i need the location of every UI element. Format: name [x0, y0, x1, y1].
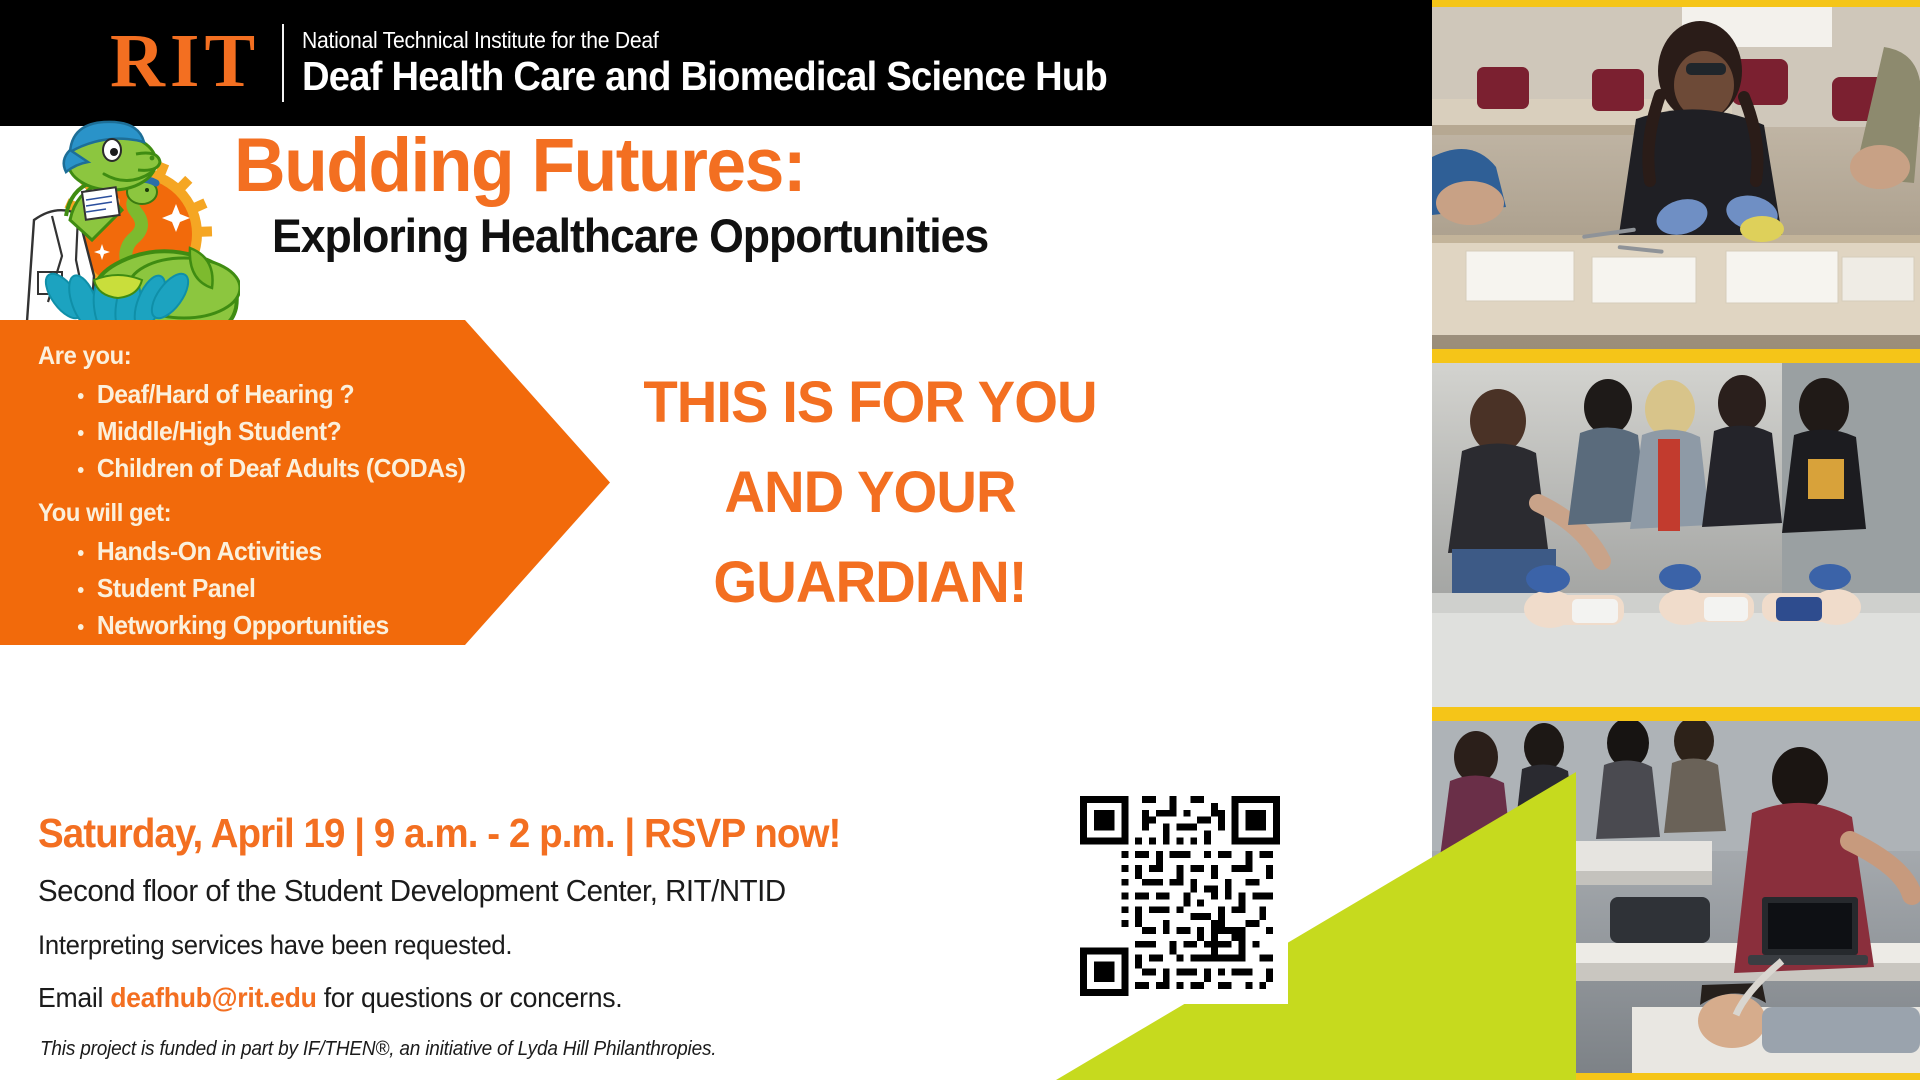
qr-code-icon: [1080, 796, 1280, 996]
rsvp-qr-code[interactable]: [1072, 788, 1288, 1004]
poster-canvas: RIT National Technical Institute for the…: [0, 0, 1920, 1080]
audience-list: Deaf/Hard of Hearing ? Middle/High Stude…: [76, 376, 610, 487]
institute-name: National Technical Institute for the Dea…: [302, 28, 1098, 52]
email-prefix: Email: [38, 982, 110, 1013]
snake-mascot-logo: [8, 112, 240, 320]
event-venue: Second floor of the Student Development …: [38, 873, 786, 909]
list-item: Children of Deaf Adults (CODAs): [76, 450, 583, 487]
list-item: Networking Opportunities: [76, 607, 583, 644]
page-subtitle: Exploring Healthcare Opportunities: [272, 212, 988, 259]
funding-credit: This project is funded in part by IF/THE…: [40, 1038, 716, 1061]
audience-heading: Are you:: [38, 342, 581, 371]
audience-benefits-panel: Are you: Deaf/Hard of Hearing ? Middle/H…: [0, 320, 610, 645]
photo-dissection-classroom: [1432, 0, 1920, 356]
header-bar: RIT National Technical Institute for the…: [0, 0, 1432, 126]
header-title-group: National Technical Institute for the Dea…: [302, 28, 1168, 98]
header-divider: [282, 24, 284, 102]
photo-cpr-manikin-training: [1432, 356, 1920, 714]
list-item: Student Panel: [76, 570, 583, 607]
email-suffix: for questions or concerns.: [317, 982, 623, 1013]
page-title: Budding Futures:: [234, 128, 805, 204]
list-item: Hands-On Activities: [76, 533, 583, 570]
email-address[interactable]: deafhub@rit.edu: [110, 982, 316, 1013]
interpreting-note: Interpreting services have been requeste…: [38, 930, 512, 961]
contact-line: Email deafhub@rit.edu for questions or c…: [38, 982, 622, 1014]
callout-line-1: THIS IS FOR YOU: [628, 358, 1113, 448]
list-item: Middle/High Student?: [76, 413, 583, 450]
rit-logo: RIT: [110, 23, 260, 99]
callout-line-2: AND YOUR: [628, 448, 1113, 538]
hub-name: Deaf Health Care and Biomedical Science …: [302, 55, 1107, 98]
event-datetime: Saturday, April 19 | 9 a.m. - 2 p.m. | R…: [38, 810, 840, 857]
benefits-heading: You will get:: [38, 499, 581, 528]
callout-text: THIS IS FOR YOU AND YOUR GUARDIAN!: [628, 358, 1113, 628]
callout-line-3: GUARDIAN!: [628, 538, 1113, 628]
benefits-list: Hands-On Activities Student Panel Networ…: [76, 533, 610, 644]
list-item: Deaf/Hard of Hearing ?: [76, 376, 583, 413]
